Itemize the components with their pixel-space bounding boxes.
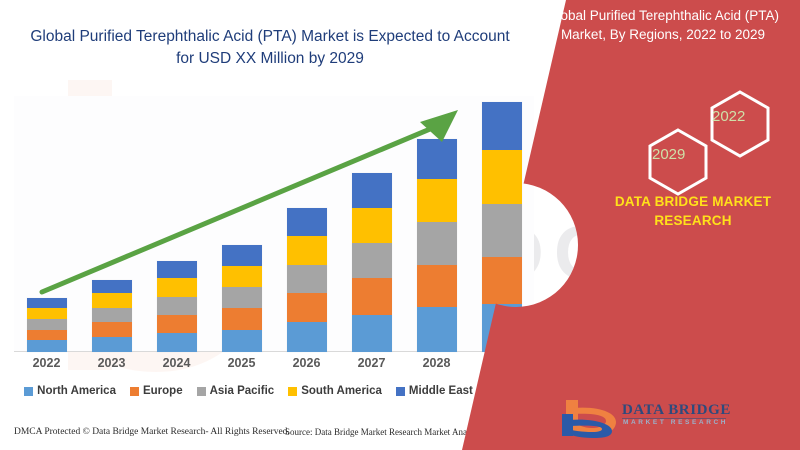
hex-label-start-year: 2022 bbox=[712, 108, 745, 125]
panel-brand-text: DATA BRIDGE MARKET RESEARCH bbox=[590, 192, 796, 230]
hexagon-group: 2022 2029 bbox=[590, 88, 800, 198]
red-panel-content: Global Purified Terephthalic Acid (PTA) … bbox=[0, 0, 800, 450]
hexagon-shapes-icon bbox=[590, 88, 800, 198]
logo-name: DATA BRIDGE bbox=[622, 402, 731, 419]
bridge-b-mark-icon bbox=[560, 398, 620, 438]
infographic-canvas: DATA BRIDGE Global Purified Terephthalic… bbox=[0, 0, 800, 450]
panel-title: Global Purified Terephthalic Acid (PTA) … bbox=[530, 6, 796, 44]
company-logo: DATA BRIDGE MARKET RESEARCH bbox=[560, 398, 740, 440]
hex-label-end-year: 2029 bbox=[652, 146, 685, 163]
logo-tagline: MARKET RESEARCH bbox=[623, 419, 728, 426]
